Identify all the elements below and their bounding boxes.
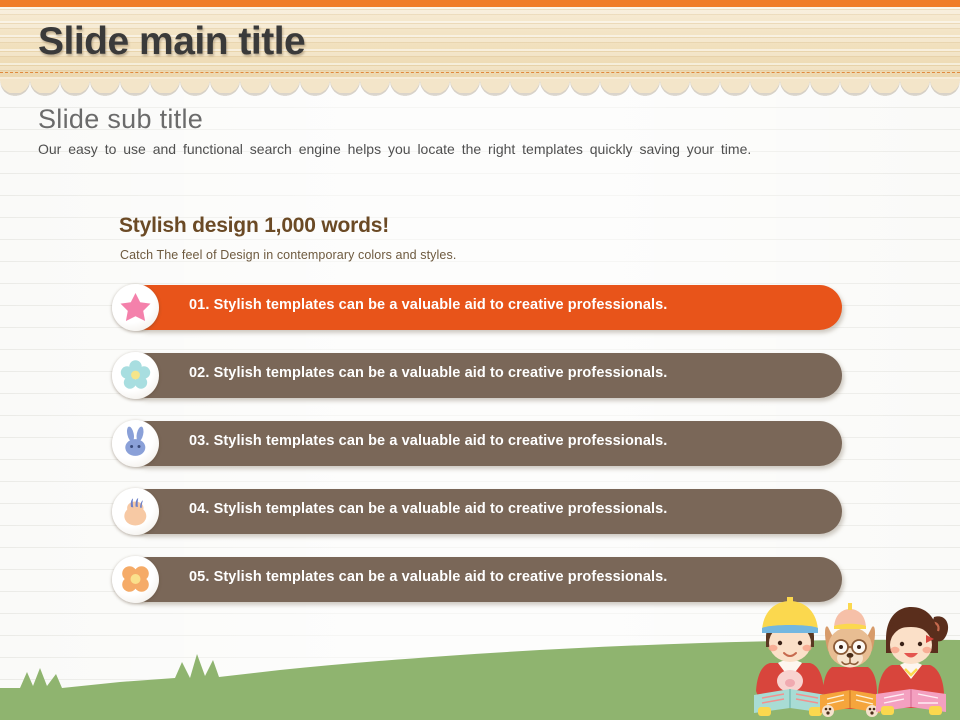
bullet-pill-02[interactable]: 02. Stylish templates can be a valuable … [125, 353, 842, 398]
header-dashed-divider [0, 72, 960, 73]
three-children-reading-books [740, 595, 960, 720]
section-title: Stylish design 1,000 words! [119, 214, 389, 238]
flower-icon [112, 352, 159, 399]
chick-icon [112, 488, 159, 535]
boy-with-yellow-hat [754, 597, 826, 716]
dog-with-glasses [820, 603, 880, 717]
clover-flower-icon [112, 556, 159, 603]
top-accent-bar [0, 0, 960, 7]
bullet-label-05: 05. Stylish templates can be a valuable … [189, 569, 667, 585]
girl-with-ponytail [876, 607, 948, 715]
rabbit-icon [112, 420, 159, 467]
list-item[interactable]: 01. Stylish templates can be a valuable … [112, 285, 842, 330]
badge-03 [112, 420, 159, 467]
list-item[interactable]: 04. Stylish templates can be a valuable … [112, 489, 842, 534]
bullet-pill-05[interactable]: 05. Stylish templates can be a valuable … [125, 557, 842, 602]
bullet-label-02: 02. Stylish templates can be a valuable … [189, 365, 667, 381]
slide-description: Our easy to use and functional search en… [38, 141, 918, 157]
badge-01 [112, 284, 159, 331]
badge-02 [112, 352, 159, 399]
bullet-pill-04[interactable]: 04. Stylish templates can be a valuable … [125, 489, 842, 534]
badge-05 [112, 556, 159, 603]
bullet-label-01: 01. Stylish templates can be a valuable … [189, 297, 667, 313]
star-icon [112, 284, 159, 331]
section-subtitle: Catch The feel of Design in contemporary… [120, 248, 456, 262]
slide-canvas: Slide main title Slide sub title Our eas… [0, 0, 960, 720]
slide-subtitle: Slide sub title [38, 104, 203, 135]
bullet-pill-03[interactable]: 03. Stylish templates can be a valuable … [125, 421, 842, 466]
scalloped-edge [0, 79, 960, 93]
list-item[interactable]: 05. Stylish templates can be a valuable … [112, 557, 842, 602]
bullet-label-04: 04. Stylish templates can be a valuable … [189, 501, 667, 517]
list-item[interactable]: 03. Stylish templates can be a valuable … [112, 421, 842, 466]
list-item[interactable]: 02. Stylish templates can be a valuable … [112, 353, 842, 398]
page-title: Slide main title [38, 20, 305, 64]
badge-04 [112, 488, 159, 535]
bullet-pill-01[interactable]: 01. Stylish templates can be a valuable … [125, 285, 842, 330]
bullet-label-03: 03. Stylish templates can be a valuable … [189, 433, 667, 449]
